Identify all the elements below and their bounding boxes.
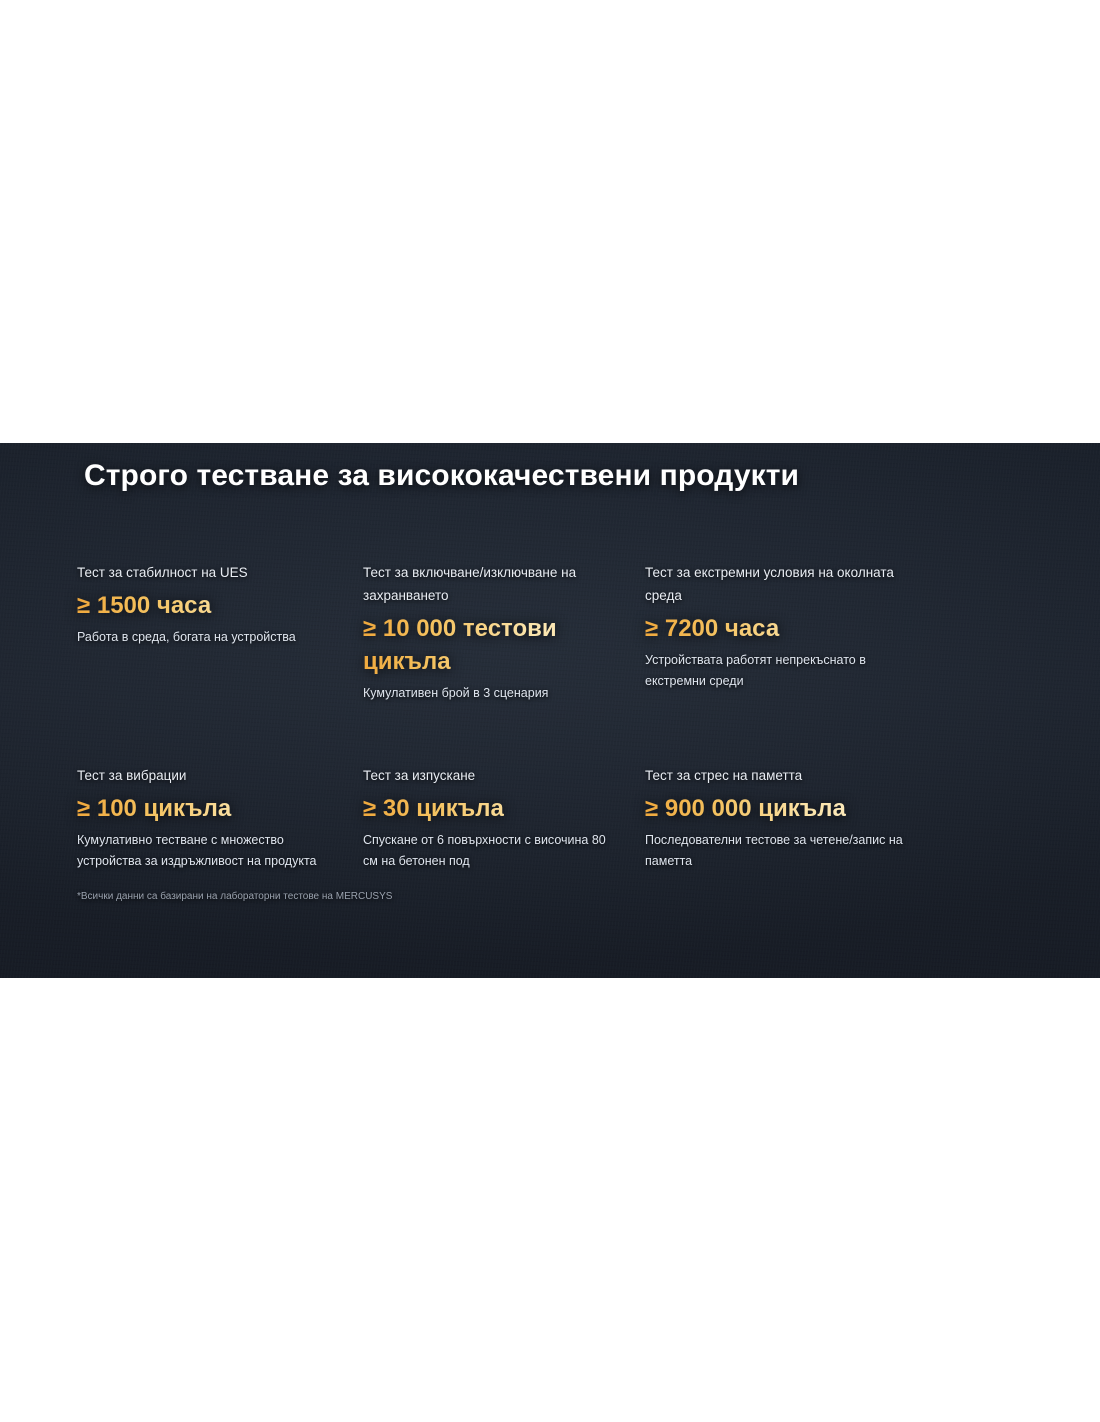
banner-title: Строго тестване за висококачествени прод… <box>84 459 799 493</box>
test-card-value: ≥ 7200 часа <box>645 612 905 645</box>
test-card-value: ≥ 100 цикъла <box>77 792 341 825</box>
test-card-value: ≥ 900 000 цикъла <box>645 792 905 825</box>
test-card-memory-stress: Тест за стрес на паметта ≥ 900 000 цикъл… <box>645 764 927 872</box>
test-cards-grid: Тест за стабилност на UES ≥ 1500 часа Ра… <box>77 561 957 872</box>
test-card-power-cycling: Тест за включване/изключване на захранва… <box>363 561 645 704</box>
test-card-heading: Тест за екстремни условия на околната ср… <box>645 561 905 607</box>
test-card-heading: Тест за изпускане <box>363 764 623 787</box>
test-card-value: ≥ 10 000 тестови цикъла <box>363 612 623 678</box>
testing-banner: Строго тестване за висококачествени прод… <box>0 443 1100 978</box>
test-card-heading: Тест за вибрации <box>77 764 341 787</box>
test-card-ues-stability: Тест за стабилност на UES ≥ 1500 часа Ра… <box>77 561 363 704</box>
test-card-description: Кумулативно тестване с множество устройс… <box>77 830 341 872</box>
test-card-description: Спускане от 6 повърхности с височина 80 … <box>363 830 623 872</box>
test-card-description: Последователни тестове за четене/запис н… <box>645 830 905 872</box>
test-card-description: Работа в среда, богата на устройства <box>77 627 341 648</box>
test-card-heading: Тест за включване/изключване на захранва… <box>363 561 623 607</box>
test-card-value: ≥ 30 цикъла <box>363 792 623 825</box>
test-card-vibration: Тест за вибрации ≥ 100 цикъла Кумулативн… <box>77 764 363 872</box>
test-card-value: ≥ 1500 часа <box>77 589 341 622</box>
test-card-drop: Тест за изпускане ≥ 30 цикъла Спускане о… <box>363 764 645 872</box>
test-card-extreme-environment: Тест за екстремни условия на околната ср… <box>645 561 927 704</box>
test-card-heading: Тест за стрес на паметта <box>645 764 905 787</box>
test-card-description: Кумулативен брой в 3 сценария <box>363 683 623 704</box>
banner-footnote: *Всички данни са базирани на лабораторни… <box>77 890 392 904</box>
test-card-description: Устройствата работят непрекъснато в екст… <box>645 650 905 692</box>
test-card-heading: Тест за стабилност на UES <box>77 561 341 584</box>
banner-content: Строго тестване за висококачествени прод… <box>0 443 1100 978</box>
